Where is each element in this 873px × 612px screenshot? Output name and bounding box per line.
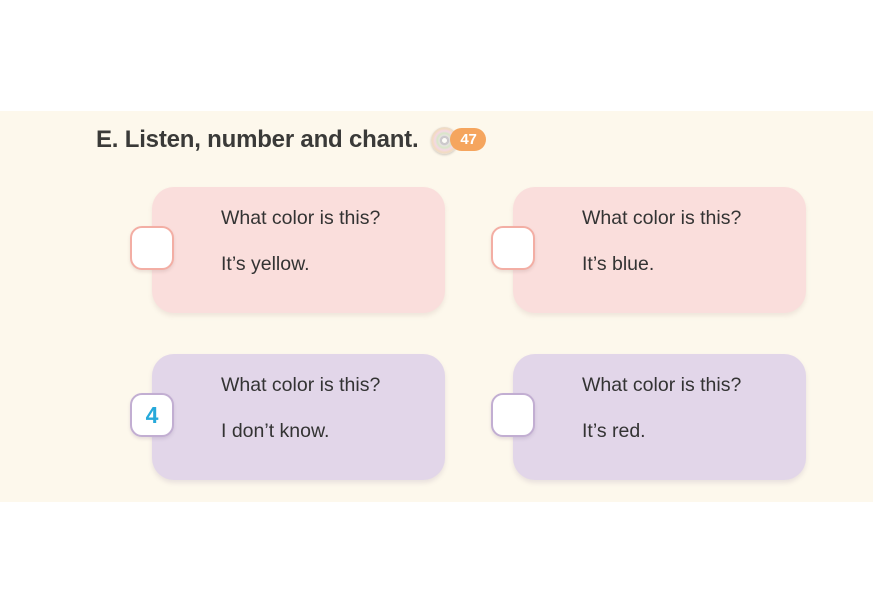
card-question-1: What color is this? (221, 209, 445, 229)
card-question-4: What color is this? (582, 376, 806, 396)
card-answer-2: It’s blue. (582, 255, 806, 275)
question-card-1[interactable]: What color is this? It’s yellow. (152, 187, 445, 313)
card-answer-1: It’s yellow. (221, 255, 445, 275)
card-question-3: What color is this? (221, 376, 445, 396)
number-answer-box-2[interactable] (491, 226, 535, 270)
number-answer-box-4[interactable] (491, 393, 535, 437)
question-card-2[interactable]: What color is this? It’s blue. (513, 187, 806, 313)
question-card-3[interactable]: 4 What color is this? I don’t know. (152, 354, 445, 480)
card-answer-4: It’s red. (582, 422, 806, 442)
question-card-grid: What color is this? It’s yellow. What co… (0, 0, 873, 612)
number-answer-value-3: 4 (146, 404, 159, 427)
card-answer-3: I don’t know. (221, 422, 445, 442)
question-card-4[interactable]: What color is this? It’s red. (513, 354, 806, 480)
worksheet-page: E. Listen, number and chant. 47 What col… (0, 0, 873, 612)
number-answer-box-1[interactable] (130, 226, 174, 270)
card-question-2: What color is this? (582, 209, 806, 229)
number-answer-box-3[interactable]: 4 (130, 393, 174, 437)
